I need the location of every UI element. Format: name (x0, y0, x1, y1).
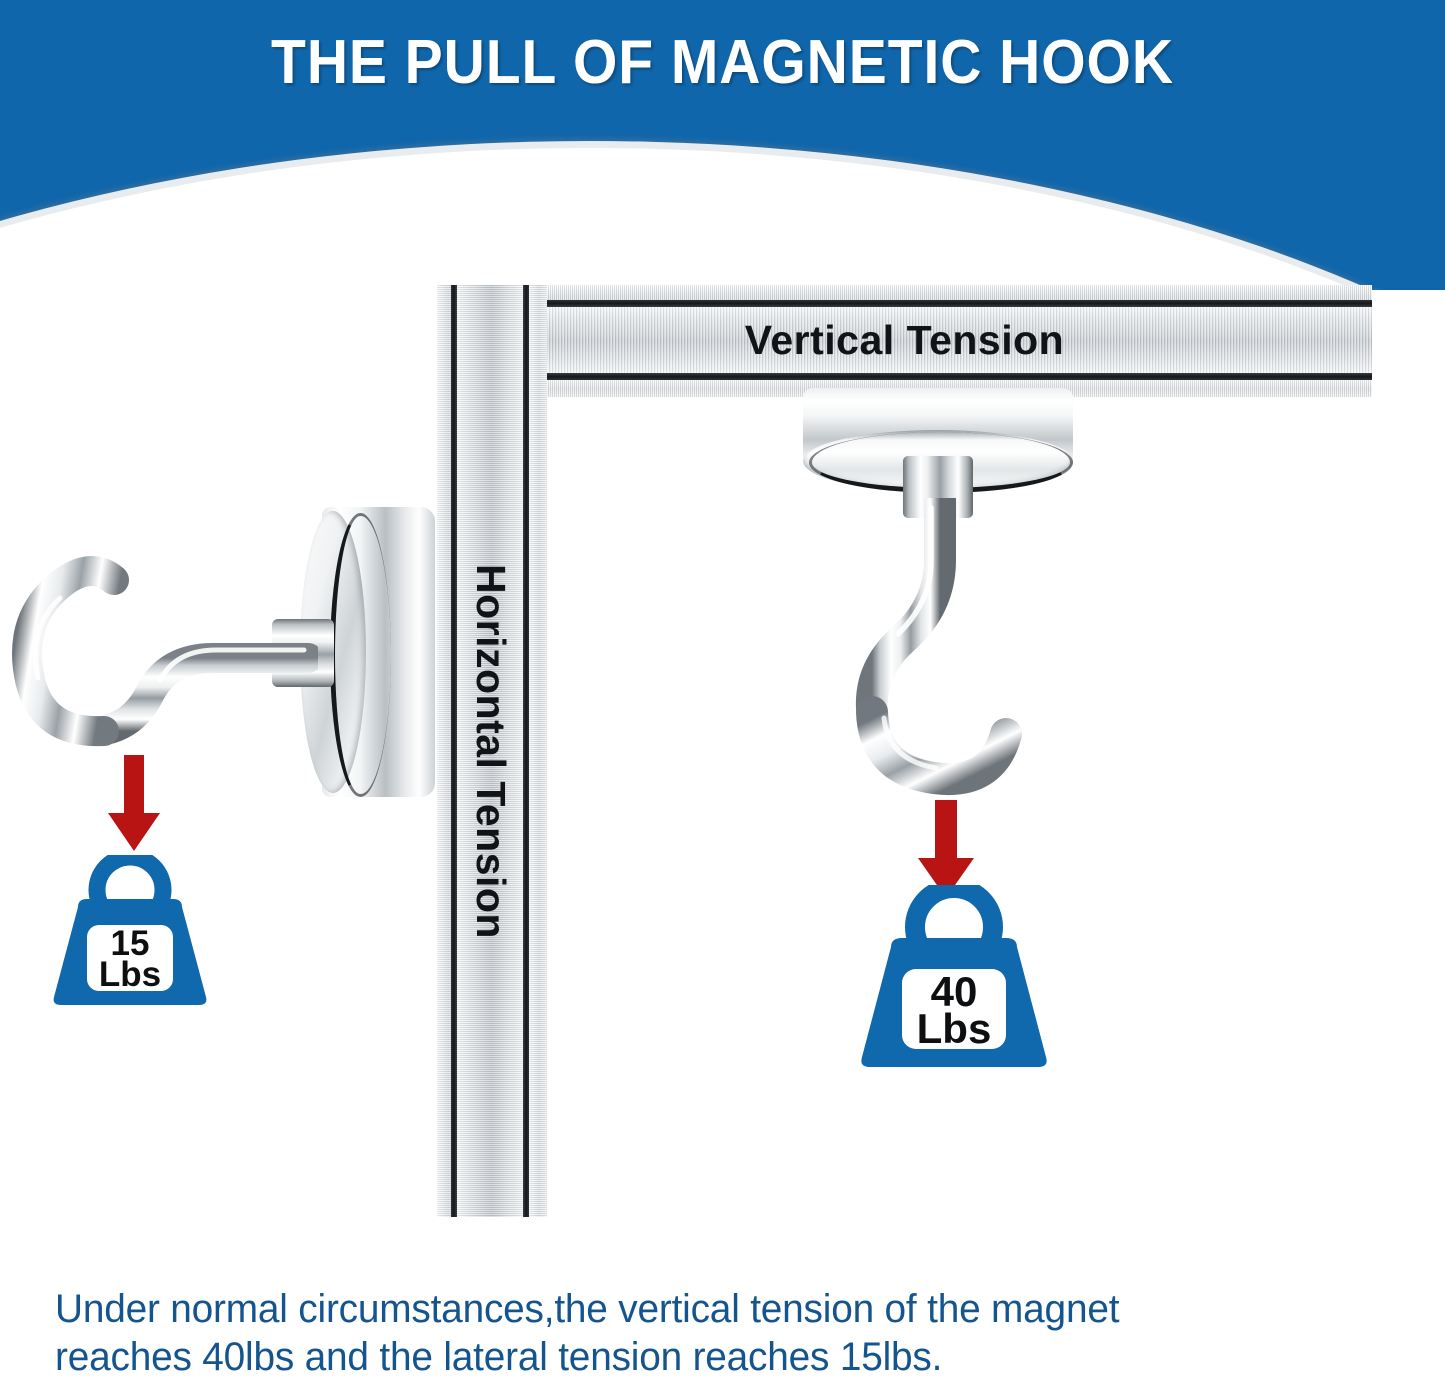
weight-unit-15: Lbs (99, 955, 161, 994)
weight-icon-40lbs: 40 Lbs (845, 885, 1063, 1067)
hook-shank (100, 658, 308, 731)
vertical-beam: Horizontal Tension (437, 285, 547, 1217)
caption-line-2: reaches 40lbs and the lateral tension re… (55, 1333, 1355, 1381)
arrow-down-icon (918, 800, 974, 898)
beam-groove-line-top (437, 300, 1372, 307)
side-magnet-disc (300, 507, 435, 797)
weight-icon-15lbs: 15 Lbs (40, 855, 220, 1005)
vbeam-right-rail (529, 285, 547, 1217)
caption-block: Under normal circumstances,the vertical … (55, 1285, 1355, 1381)
magnet-disc-ring (330, 513, 391, 797)
side-hook (8, 528, 318, 768)
ceiling-hook (820, 498, 1080, 818)
hook-curve (27, 571, 114, 731)
horizontal-tension-label-text: Horizontal Tension (467, 564, 514, 939)
vertical-tension-label: Vertical Tension (437, 307, 1372, 373)
horizontal-tension-label: Horizontal Tension (457, 285, 523, 1217)
beam-groove-line-bottom (437, 373, 1372, 380)
vbeam-left-rail (437, 285, 451, 1217)
weight-unit-40: Lbs (917, 1005, 992, 1052)
beam-top-rail (437, 285, 1372, 300)
page-title: THE PULL OF MAGNETIC HOOK (58, 28, 1387, 98)
force-arrow-left (105, 755, 163, 853)
arrow-down-icon (108, 755, 160, 851)
horizontal-beam: Vertical Tension (437, 285, 1372, 397)
caption-line-1: Under normal circumstances,the vertical … (55, 1285, 1355, 1333)
header-banner: THE PULL OF MAGNETIC HOOK (0, 0, 1445, 290)
